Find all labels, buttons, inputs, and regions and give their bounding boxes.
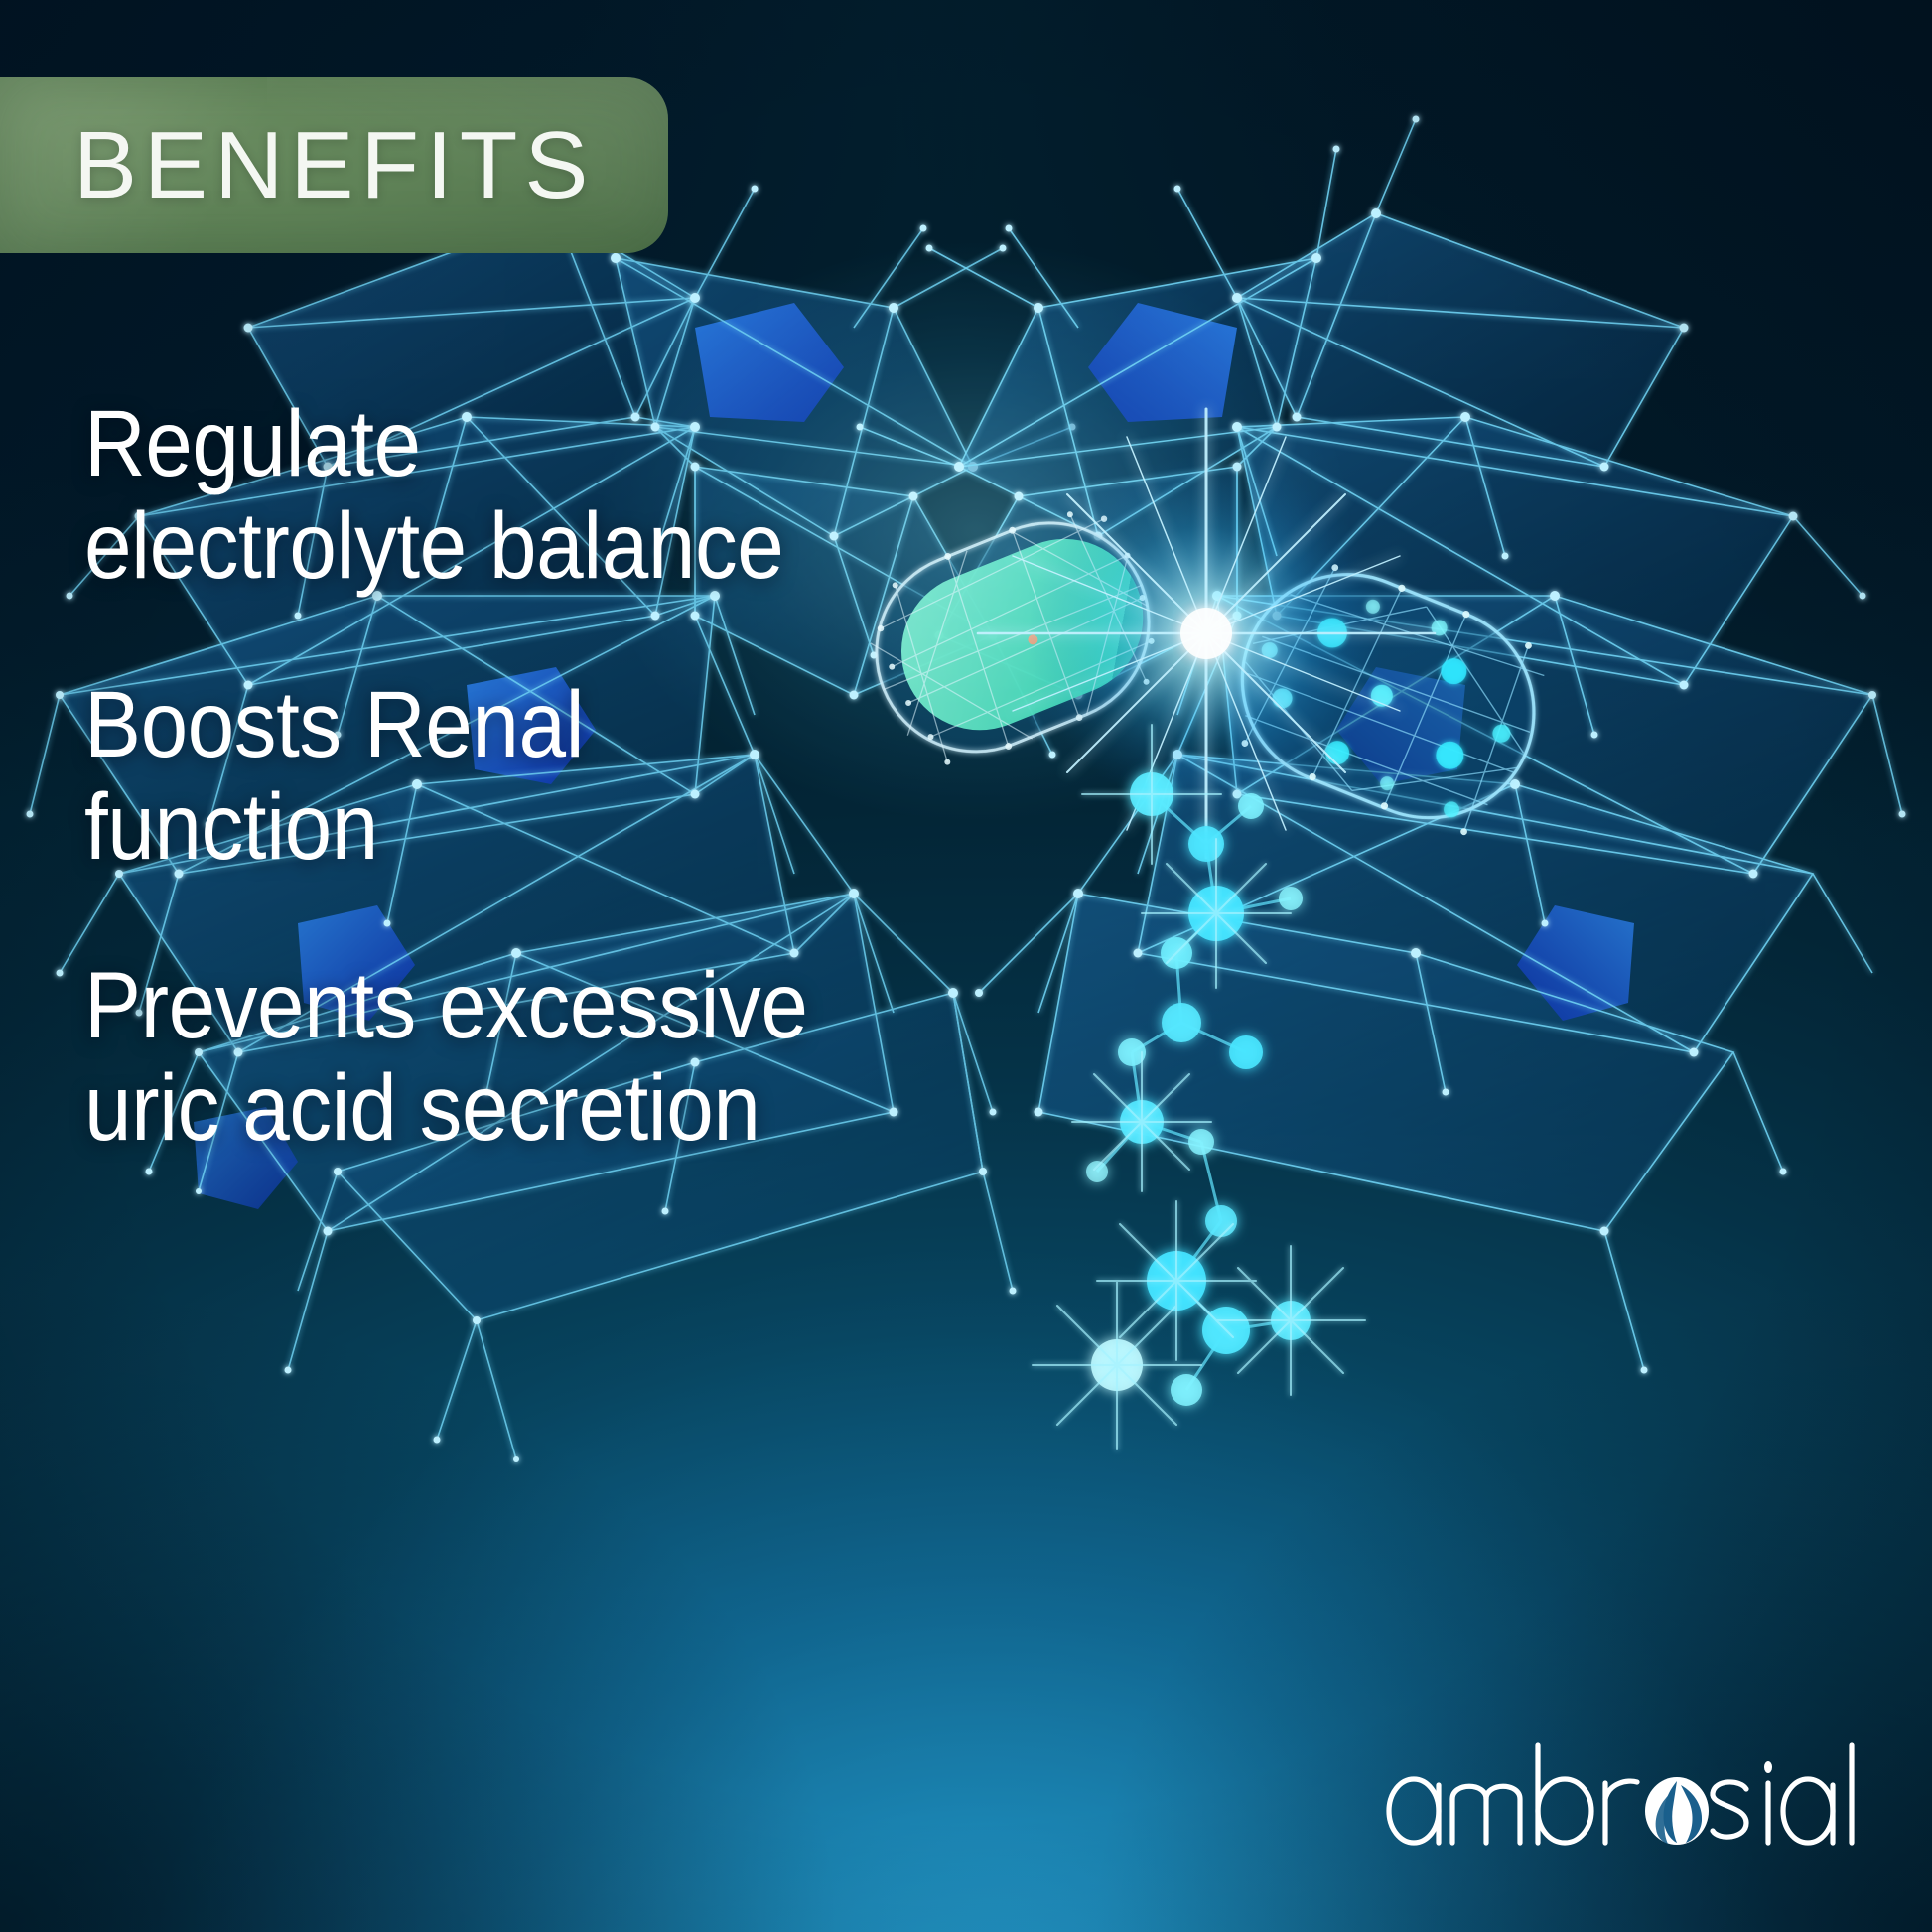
ambrosial-wordmark [1383,1737,1879,1857]
benefit-line: Boosts Renal [84,674,826,776]
benefit-line: uric acid secretion [84,1057,826,1160]
i-dot [1764,1761,1772,1773]
banner-title: BENEFITS [73,118,595,213]
benefit-line: electrolyte balance [84,495,826,598]
benefit-line: Prevents excessive [84,955,826,1057]
benefit-line: function [84,776,826,879]
benefit-item: Boosts Renal function [84,674,826,878]
leaf-icon [1645,1777,1709,1845]
benefit-line: Regulate [84,393,826,495]
benefits-poster: BENEFITS Regulate electrolyte balance Bo… [0,0,1932,1932]
benefits-banner: BENEFITS [0,77,668,253]
benefit-item: Prevents excessive uric acid secretion [84,955,826,1159]
benefit-item: Regulate electrolyte balance [84,393,826,597]
brand-logo [1383,1737,1879,1857]
benefits-list: Regulate electrolyte balance Boosts Rena… [84,393,908,1160]
